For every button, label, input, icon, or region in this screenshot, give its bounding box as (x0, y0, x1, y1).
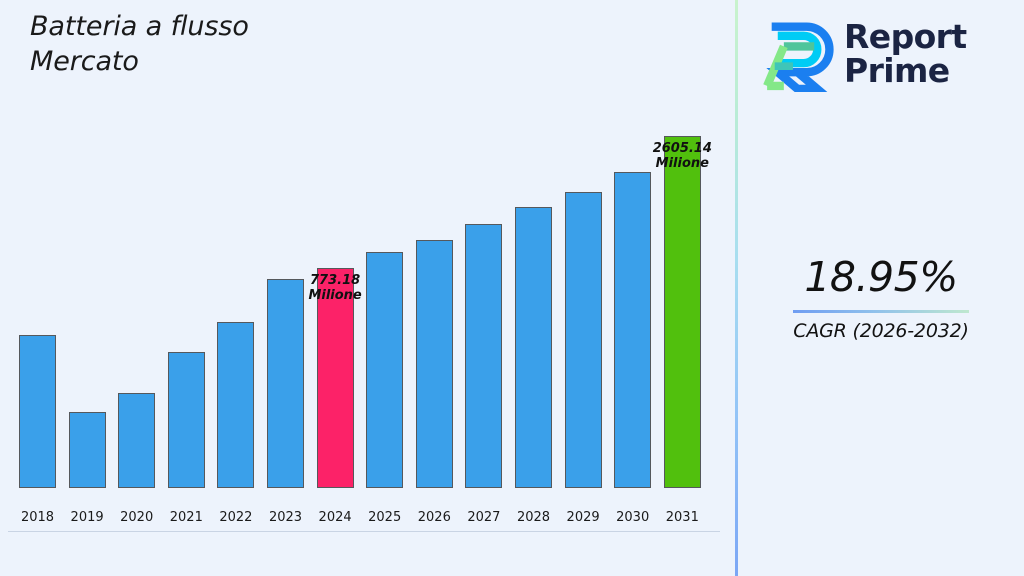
x-tick-2019: 2019 (61, 510, 113, 525)
x-tick-2022: 2022 (210, 510, 262, 525)
bar-2031[interactable] (664, 136, 701, 488)
x-tick-2023: 2023 (260, 510, 312, 525)
x-tick-2020: 2020 (111, 510, 163, 525)
bar-2021[interactable] (168, 352, 205, 488)
x-tick-2024: 2024 (309, 510, 361, 525)
brand-name: Report Prime (844, 20, 967, 88)
report-prime-logo[interactable]: Report Prime (758, 12, 1020, 96)
x-tick-2021: 2021 (160, 510, 212, 525)
x-tick-2029: 2029 (557, 510, 609, 525)
bar-2030[interactable] (614, 172, 651, 488)
bar-2027[interactable] (465, 224, 502, 488)
x-tick-2025: 2025 (359, 510, 411, 525)
bar-2023[interactable] (267, 279, 304, 488)
x-tick-2018: 2018 (12, 510, 64, 525)
bar-value-label-2024: 773.18 Milione (290, 273, 380, 304)
x-tick-2028: 2028 (508, 510, 560, 525)
cagr-divider-rule (793, 310, 969, 313)
report-prime-mark-icon (758, 16, 834, 92)
bar-value-label-2031: 2605.14 Milione (637, 141, 727, 172)
x-tick-2026: 2026 (408, 510, 460, 525)
bar-2029[interactable] (565, 192, 602, 488)
x-tick-2031: 2031 (656, 510, 708, 525)
brand-name-line-2: Prime (844, 51, 950, 90)
report-slide: Batteria a flusso Mercato 773.18 Milione… (0, 0, 1024, 576)
bar-2019[interactable] (69, 412, 106, 488)
bar-2028[interactable] (515, 207, 552, 488)
brand-panel: Report Prime 18.95% CAGR (2026-2032) (738, 0, 1024, 576)
bar-chart-plot: 773.18 Milione2605.14 Milione 2018201920… (0, 0, 735, 533)
bar-2020[interactable] (118, 393, 155, 488)
x-axis-line (8, 531, 720, 532)
x-tick-2027: 2027 (458, 510, 510, 525)
bar-2026[interactable] (416, 240, 453, 488)
x-tick-2030: 2030 (607, 510, 659, 525)
cagr-caption: CAGR (2026-2032) (738, 320, 1024, 342)
chart-panel: Batteria a flusso Mercato 773.18 Milione… (0, 0, 735, 576)
cagr-block: 18.95% CAGR (2026-2032) (738, 255, 1024, 342)
cagr-value: 18.95% (738, 255, 1024, 301)
bar-2018[interactable] (19, 335, 56, 488)
bar-2022[interactable] (217, 322, 254, 488)
